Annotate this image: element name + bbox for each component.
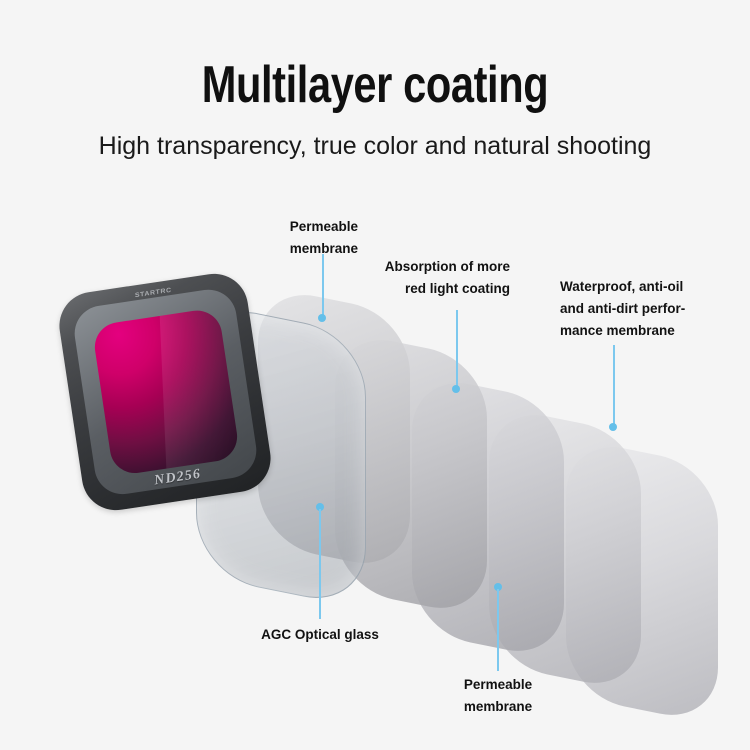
- leader-dot-red-light-coating: [452, 385, 460, 393]
- filter-glass: [91, 307, 240, 476]
- nd-filter-product: STARTRC ND256: [55, 269, 275, 515]
- leader-line-waterproof-membrane: [613, 345, 615, 427]
- leader-dot-permeable-membrane-top: [318, 314, 326, 322]
- filter-bezel: STARTRC ND256: [55, 269, 275, 515]
- callout-waterproof-membrane: Waterproof, anti-oil and anti-dirt perfo…: [560, 276, 732, 342]
- filter-reflection: [159, 307, 240, 476]
- leader-line-agc-optical-glass: [319, 509, 321, 619]
- exploded-view-diagram: STARTRC ND256 Permeable membrane Absorpt…: [0, 0, 750, 750]
- leader-dot-waterproof-membrane: [609, 423, 617, 431]
- callout-red-light-coating: Absorption of more red light coating: [358, 256, 510, 300]
- product-infographic: Multilayer coating High transparency, tr…: [0, 0, 750, 750]
- callout-permeable-membrane-bottom: Permeable membrane: [436, 674, 560, 718]
- callout-agc-optical-glass: AGC Optical glass: [239, 624, 401, 646]
- callout-permeable-membrane-top: Permeable membrane: [224, 216, 358, 260]
- leader-line-permeable-membrane-bottom: [497, 589, 499, 671]
- leader-line-red-light-coating: [456, 310, 458, 388]
- leader-line-permeable-membrane-top: [322, 254, 324, 316]
